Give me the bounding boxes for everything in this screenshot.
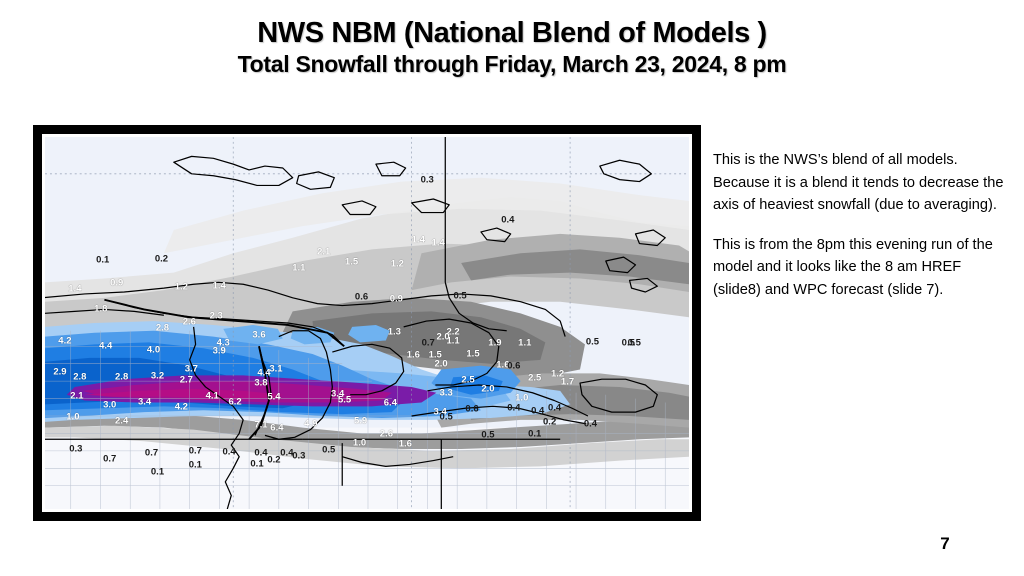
title-line-1: NWS NBM (National Blend of Models ) — [0, 18, 1024, 49]
slide-title: NWS NBM (National Blend of Models ) Tota… — [0, 18, 1024, 76]
notes-paragraph-1: This is the NWS’s blend of all models. B… — [713, 149, 1013, 217]
map-inner-border: 0.10.91.41.81.21.40.20.30.41.40.51.11.52… — [42, 134, 692, 512]
map-frame: 0.10.91.41.81.21.40.20.30.41.40.51.11.52… — [33, 125, 701, 521]
snowfall-map-svg — [45, 137, 689, 509]
notes-column: This is the NWS’s blend of all models. B… — [713, 149, 1013, 302]
title-line-2: Total Snowfall through Friday, March 23,… — [0, 52, 1024, 76]
notes-paragraph-2: This is from the 8pm this evening run of… — [713, 234, 1013, 302]
page-number: 7 — [925, 534, 965, 554]
slide-root: NWS NBM (National Blend of Models ) Tota… — [0, 0, 1024, 576]
snowfall-map: 0.10.91.41.81.21.40.20.30.41.40.51.11.52… — [45, 137, 689, 509]
